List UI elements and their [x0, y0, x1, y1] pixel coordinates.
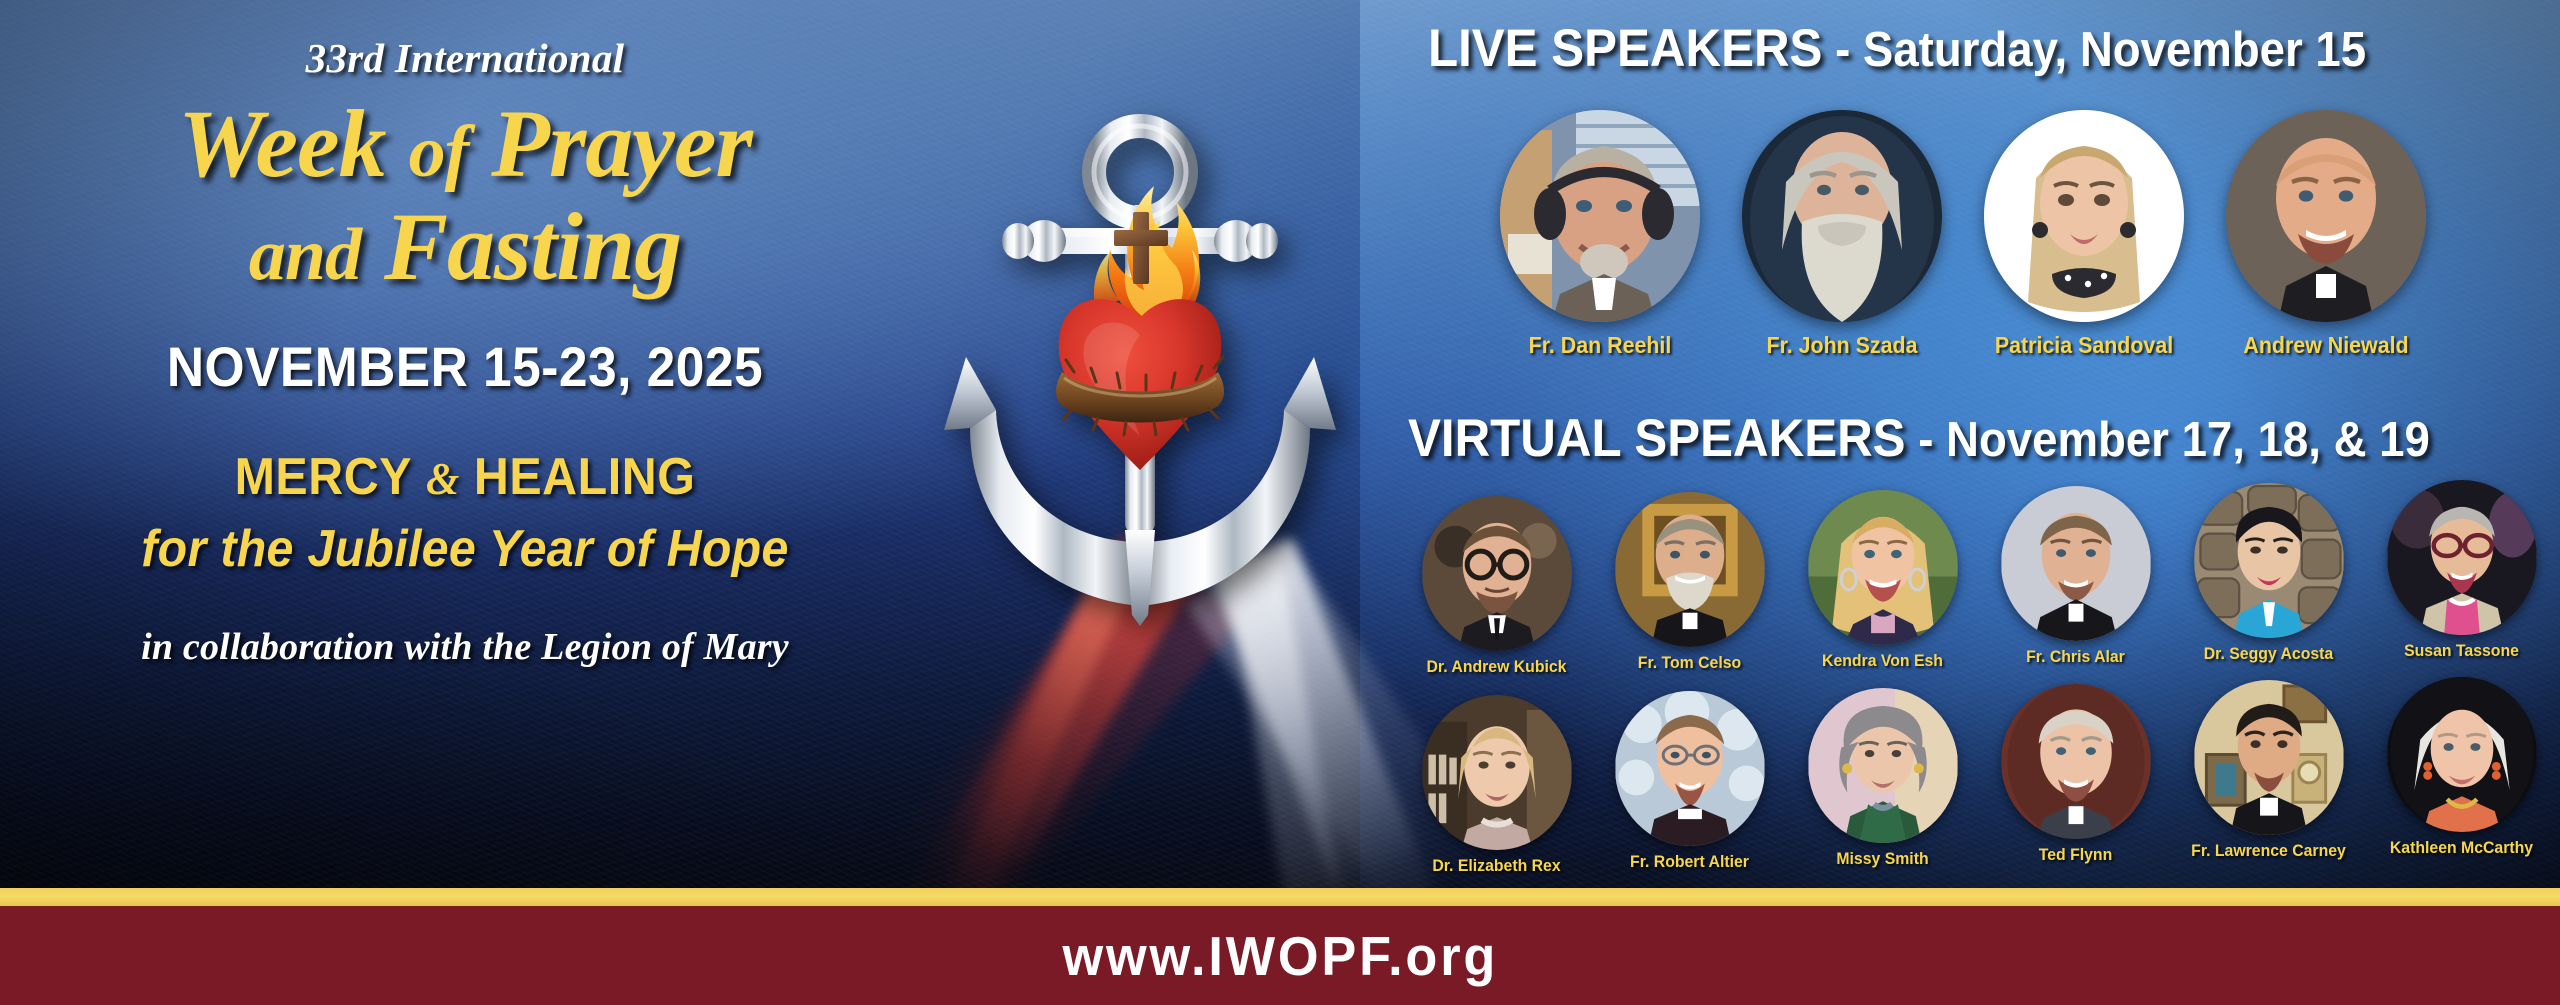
- speaker-avatar: [1984, 110, 2184, 322]
- collaboration-text: in collaboration with the Legion of Mary: [0, 625, 930, 669]
- gold-divider-bar: [0, 888, 2560, 906]
- event-dates: NOVEMBER 15-23, 2025: [37, 334, 893, 399]
- speaker-avatar: [1808, 490, 1958, 645]
- speaker-card[interactable]: Missy Smith: [1786, 688, 1979, 869]
- ampersand-glyph: &: [426, 453, 460, 504]
- speaker-avatar: [2387, 480, 2537, 635]
- speaker-name: Fr. John Szada: [1749, 332, 1935, 359]
- title-word-fasting: Fasting: [384, 193, 681, 300]
- virtual-speakers-grid: Dr. Andrew Kubick: [1400, 492, 2560, 870]
- virtual-speakers-heading: VIRTUAL SPEAKERS - November 17, 18, & 19: [1408, 408, 2430, 469]
- title-word-and: and: [249, 214, 361, 296]
- speaker-avatar: [2001, 486, 2151, 641]
- speaker-card[interactable]: Kendra Von Esh: [1786, 490, 1979, 671]
- left-text-column: 33rd International Week of Prayer and Fa…: [0, 0, 930, 890]
- speakers-panel: LIVE SPEAKERS - Saturday, November 15: [1400, 0, 2560, 890]
- speaker-avatar: [1422, 496, 1572, 651]
- live-speakers-row: Fr. Dan Reehil: [1400, 110, 2560, 359]
- speaker-name: Fr. Chris Alar: [1986, 647, 2165, 667]
- title-word-prayer: Prayer: [491, 90, 752, 197]
- speaker-avatar: [1615, 492, 1765, 647]
- live-speakers-heading: LIVE SPEAKERS - Saturday, November 15: [1428, 18, 2366, 79]
- speaker-avatar: [2387, 677, 2537, 832]
- title-word-of: of: [409, 111, 469, 193]
- speaker-name: Missy Smith: [1793, 849, 1972, 869]
- speaker-name: Fr. Lawrence Carney: [2179, 841, 2358, 861]
- speaker-card[interactable]: Fr. Tom Celso: [1593, 492, 1786, 673]
- speaker-card[interactable]: Dr. Andrew Kubick: [1400, 496, 1593, 677]
- virtual-heading-tail: - November 17, 18, & 19: [1906, 413, 2430, 467]
- speaker-name: Kathleen McCarthy: [2372, 838, 2551, 858]
- theme-line-2: for the Jubilee Year of Hope: [33, 519, 898, 579]
- theme-word-mercy: MERCY: [235, 448, 412, 506]
- speaker-name: Dr. Seggy Acosta: [2179, 644, 2358, 664]
- theme-line-1: MERCY & HEALING: [33, 447, 898, 507]
- speaker-name: Dr. Andrew Kubick: [1407, 657, 1586, 677]
- speaker-avatar: [2001, 684, 2151, 839]
- virtual-speakers-row-1: Dr. Andrew Kubick: [1400, 492, 2560, 673]
- speaker-card[interactable]: Dr. Seggy Acosta: [2172, 483, 2365, 664]
- footer-bar: www.IWOPF.org: [0, 906, 2560, 1005]
- title-word-week: Week: [178, 90, 385, 197]
- live-heading-lead: LIVE SPEAKERS: [1428, 19, 1822, 78]
- eyebrow-text: 33rd International: [0, 34, 930, 82]
- speaker-card[interactable]: Kathleen McCarthy: [2365, 677, 2558, 858]
- speaker-name: Ted Flynn: [1986, 845, 2165, 865]
- speaker-card[interactable]: Patricia Sandoval: [1984, 110, 2184, 359]
- speaker-name: Patricia Sandoval: [1991, 332, 2177, 359]
- speaker-avatar: [1808, 688, 1958, 843]
- speaker-card[interactable]: Fr. Lawrence Carney: [2172, 680, 2365, 861]
- speaker-card[interactable]: Fr. Dan Reehil: [1500, 110, 1700, 359]
- event-banner: 33rd International Week of Prayer and Fa…: [0, 0, 2560, 1005]
- anchor-sacred-heart-icon: [940, 110, 1340, 640]
- speaker-avatar: [1500, 110, 1700, 322]
- theme-word-healing: HEALING: [474, 448, 696, 506]
- title-line-2: and Fasting: [0, 198, 930, 296]
- speaker-card[interactable]: Dr. Elizabeth Rex: [1400, 695, 1593, 876]
- title-line-1: Week of Prayer: [0, 96, 930, 192]
- speaker-card[interactable]: Susan Tassone: [2365, 480, 2558, 661]
- live-heading-tail: - Saturday, November 15: [1822, 23, 2366, 77]
- speaker-name: Dr. Elizabeth Rex: [1407, 856, 1586, 876]
- speaker-avatar: [1615, 691, 1765, 846]
- speaker-avatar: [1422, 695, 1572, 850]
- speaker-name: Fr. Dan Reehil: [1507, 332, 1693, 359]
- speaker-card[interactable]: Fr. John Szada: [1742, 110, 1942, 359]
- speaker-name: Fr. Robert Altier: [1600, 852, 1779, 872]
- speaker-avatar: [2194, 680, 2344, 835]
- speaker-name: Andrew Niewald: [2233, 332, 2419, 359]
- speaker-avatar: [2194, 483, 2344, 638]
- speaker-avatar: [1742, 110, 1942, 322]
- speaker-avatar: [2226, 110, 2426, 322]
- speaker-name: Kendra Von Esh: [1793, 651, 1972, 671]
- speaker-name: Susan Tassone: [2372, 641, 2551, 661]
- speaker-card[interactable]: Fr. Robert Altier: [1593, 691, 1786, 872]
- virtual-speakers-row-2: Dr. Elizabeth Rex: [1400, 689, 2560, 870]
- speaker-card[interactable]: Andrew Niewald: [2226, 110, 2426, 359]
- speaker-card[interactable]: Fr. Chris Alar: [1979, 486, 2172, 667]
- speaker-card[interactable]: Ted Flynn: [1979, 684, 2172, 865]
- website-url[interactable]: www.IWOPF.org: [1062, 924, 1498, 988]
- virtual-heading-lead: VIRTUAL SPEAKERS: [1408, 409, 1906, 468]
- speaker-name: Fr. Tom Celso: [1600, 653, 1779, 673]
